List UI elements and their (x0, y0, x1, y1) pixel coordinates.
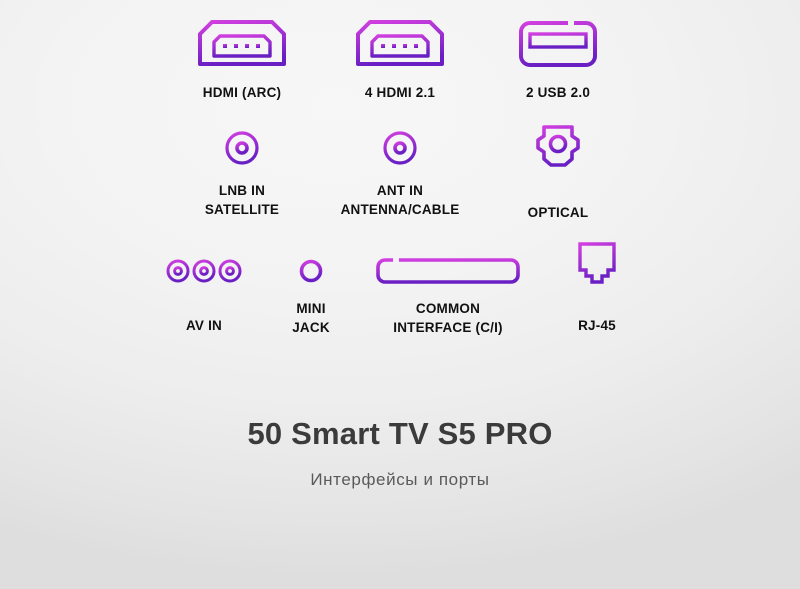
port-cell-usb: 2 USB 2.0 (479, 18, 637, 102)
port-cell-rj45: RJ-45 (538, 244, 656, 335)
common-interface-icon (375, 244, 521, 286)
rca-triple-port-icon (164, 244, 244, 286)
port-label: MINI JACK (292, 299, 330, 337)
port-cell-hdmi-arc: HDMI (ARC) (163, 18, 321, 102)
page-title: 50 Smart TV S5 PRO (0, 415, 800, 452)
ports-grid: HDMI (ARC) (0, 18, 800, 338)
port-cell-optical: OPTICAL (479, 124, 637, 222)
infographic-canvas: HDMI (ARC) (0, 0, 800, 589)
port-cell-mini-jack: MINI JACK (264, 244, 358, 337)
ports-row-2: LNB IN SATELLITE ANT (0, 124, 800, 222)
port-cell-lnb-in: LNB IN SATELLITE (163, 124, 321, 219)
ports-row-3: AV IN MINI JACK (0, 244, 800, 337)
port-label: RJ-45 (578, 316, 616, 335)
port-label: 4 HDMI 2.1 (365, 83, 435, 102)
title-block: 50 Smart TV S5 PRO Интерфейсы и порты (0, 415, 800, 490)
port-label: HDMI (ARC) (203, 83, 282, 102)
port-cell-av-in: AV IN (144, 244, 264, 335)
mini-jack-port-icon (296, 244, 326, 286)
hdmi-port-icon (352, 18, 448, 74)
port-label: LNB IN SATELLITE (205, 181, 279, 219)
port-label: COMMON INTERFACE (C/I) (393, 299, 503, 337)
ports-row-1: HDMI (ARC) (0, 18, 800, 102)
usb-port-icon (514, 18, 602, 74)
coaxial-port-icon (378, 124, 422, 170)
optical-port-icon (531, 124, 585, 170)
port-label: OPTICAL (528, 203, 589, 222)
port-cell-hdmi-21: 4 HDMI 2.1 (321, 18, 479, 102)
port-label: ANT IN ANTENNA/CABLE (341, 181, 460, 219)
coaxial-port-icon (220, 124, 264, 170)
port-cell-ant-in: ANT IN ANTENNA/CABLE (321, 124, 479, 219)
hdmi-port-icon (194, 18, 290, 74)
port-label: AV IN (186, 316, 222, 335)
port-label: 2 USB 2.0 (526, 83, 590, 102)
port-cell-common-interface: COMMON INTERFACE (C/I) (358, 244, 538, 337)
page-subtitle: Интерфейсы и порты (0, 470, 800, 490)
rj45-port-icon (574, 244, 620, 286)
